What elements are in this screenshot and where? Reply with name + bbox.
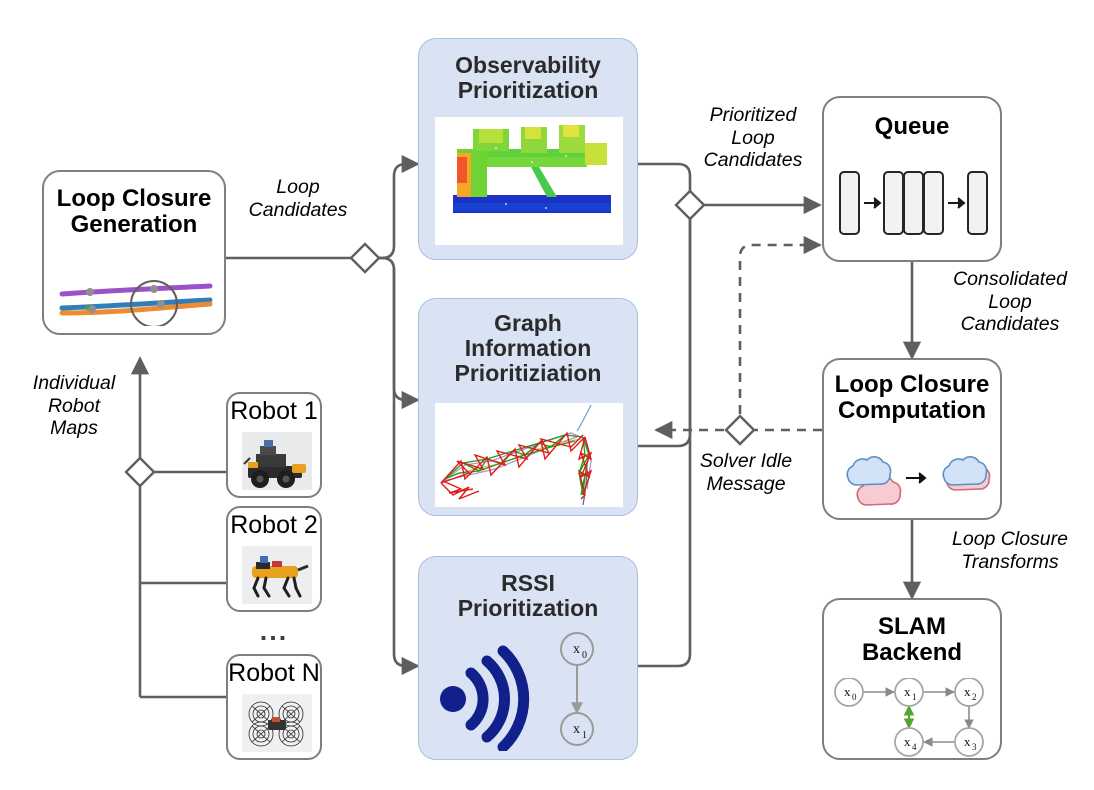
node-queue[interactable]: Queue: [822, 96, 1002, 262]
node-title: Observability Prioritization: [419, 53, 637, 103]
robot-photo-2: [242, 546, 312, 604]
label-prioritized-loop-candidates: Prioritized Loop Candidates: [692, 104, 814, 172]
node-loop-closure-computation[interactable]: Loop Closure Computation: [822, 358, 1002, 520]
robot-card-2[interactable]: Robot 2: [226, 506, 322, 612]
svg-text:4: 4: [912, 742, 917, 752]
node-title: Loop Closure Computation: [824, 372, 1000, 424]
label-loop-closure-transforms: Loop Closure Transforms: [932, 528, 1088, 573]
svg-text:x: x: [964, 684, 971, 699]
node-rssi-prioritization[interactable]: RSSI Prioritization x: [418, 556, 638, 760]
label-loop-candidates: Loop Candidates: [236, 176, 360, 221]
node-title: SLAM Backend: [824, 614, 1000, 666]
node-slam-backend[interactable]: SLAM Backend: [822, 598, 1002, 760]
label-solver-idle-message: Solver Idle Message: [676, 450, 816, 495]
robot-label: Robot N: [228, 660, 320, 687]
node-title: RSSI Prioritization: [419, 571, 637, 621]
graph-information-thumbnail: [435, 403, 623, 507]
robot-label: Robot 1: [228, 398, 320, 425]
svg-text:1: 1: [912, 692, 917, 702]
label-individual-robot-maps: Individual Robot Maps: [16, 372, 132, 440]
robot-photo-n: [242, 694, 312, 752]
robot-card-n[interactable]: Robot N: [226, 654, 322, 760]
svg-text:1: 1: [582, 730, 587, 741]
queue-slots-thumbnail: [838, 164, 990, 246]
rssi-signal-icon: [437, 643, 547, 751]
svg-text:x: x: [904, 684, 911, 699]
robot-ellipsis: ...: [226, 616, 322, 647]
slam-pose-graph-thumbnail: x0 x1 x2 x3 x4: [832, 678, 998, 758]
svg-text:0: 0: [852, 692, 857, 702]
robot-card-1[interactable]: Robot 1: [226, 392, 322, 498]
node-graph-information-prioritization[interactable]: Graph Information Prioritiziation: [418, 298, 638, 516]
svg-text:0: 0: [582, 650, 587, 661]
node-observability-prioritization[interactable]: Observability Prioritization: [418, 38, 638, 260]
svg-text:x: x: [844, 684, 851, 699]
observability-pointcloud-thumbnail: [435, 117, 623, 245]
node-title: Graph Information Prioritiziation: [419, 311, 637, 385]
node-loop-closure-generation[interactable]: Loop Closure Generation: [42, 170, 226, 335]
node-title: Loop Closure Generation: [44, 186, 224, 238]
pointcloud-registration-thumbnail: [836, 444, 992, 512]
robot-photo-1: [242, 432, 312, 490]
trajectories-thumbnail: [58, 268, 216, 326]
rssi-pose-graph: x 0 x 1: [537, 629, 627, 751]
svg-text:x: x: [904, 734, 911, 749]
svg-text:x: x: [573, 722, 580, 737]
svg-text:x: x: [964, 734, 971, 749]
label-consolidated-loop-candidates: Consolidated Loop Candidates: [930, 268, 1090, 336]
svg-text:x: x: [573, 642, 580, 657]
diagram-canvas: Loop Closure Generation Observability Pr…: [0, 0, 1094, 790]
node-title: Queue: [824, 114, 1000, 140]
robot-label: Robot 2: [228, 512, 320, 539]
svg-text:2: 2: [972, 692, 977, 702]
svg-text:3: 3: [972, 742, 977, 752]
